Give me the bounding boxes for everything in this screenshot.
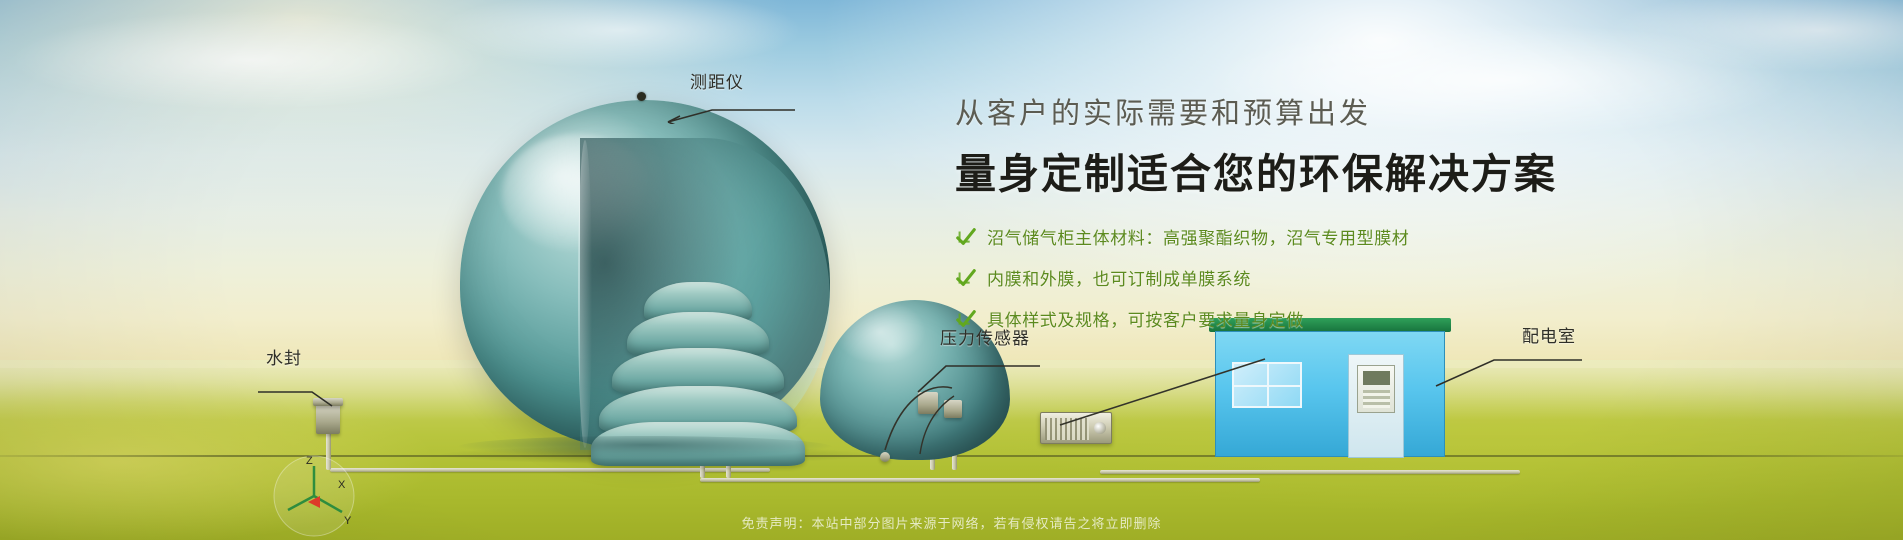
callout-rangefinder-leader [660,88,800,124]
list-item: 内膜和外膜，也可订制成单膜系统 [955,265,1655,290]
check-icon [955,267,977,289]
list-item: 沼气储气柜主体材料：高强聚酯织物，沼气专用型膜材 [955,224,1655,249]
check-icon [955,308,977,330]
hero-banner: 测距仪 水封 压力传感器 配电室 Z X Y 从客户的实际需要和预算出发 量身定… [0,0,1903,540]
page-title: 量身定制适合您的环保解决方案 [955,140,1655,200]
list-item-label: 沼气储气柜主体材料：高强聚酯织物，沼气专用型膜材 [987,224,1409,249]
callout-distribution-room-leader [1432,342,1592,390]
callout-pressure-sensor-leader [900,344,1050,396]
check-icon [955,226,977,248]
inner-membrane-stack [590,282,805,460]
pipe-right-run [1100,470,1520,474]
disclaimer-text: 免责声明：本站中部分图片来源于网络，若有侵权请告之将立即删除 [0,513,1903,532]
pipe-center-run [700,478,1260,482]
rangefinder-sensor-dot [637,92,646,101]
list-item: 具体样式及规格，可按客户要求量身定做 [955,306,1655,331]
biogas-dome-tank [460,100,840,460]
control-cable [1050,355,1270,445]
house-door [1348,354,1404,458]
control-panel [1357,365,1395,413]
control-panel-screen [1363,371,1390,385]
subtitle: 从客户的实际需要和预算出发 [955,90,1655,132]
list-item-label: 内膜和外膜，也可订制成单膜系统 [987,265,1251,290]
dome-base-ring [458,436,832,458]
marketing-copy: 从客户的实际需要和预算出发 量身定制适合您的环保解决方案 沼气储气柜主体材料：高… [955,90,1655,347]
list-item-label: 具体样式及规格，可按客户要求量身定做 [987,306,1304,331]
control-panel-buttons [1363,390,1390,408]
gizmo-axis-z: Z [306,455,313,467]
callout-water-seal-leader [256,364,356,410]
feature-list: 沼气储气柜主体材料：高强聚酯织物，沼气专用型膜材 内膜和外膜，也可订制成单膜系统… [955,224,1655,331]
gizmo-axis-x: X [338,479,346,491]
